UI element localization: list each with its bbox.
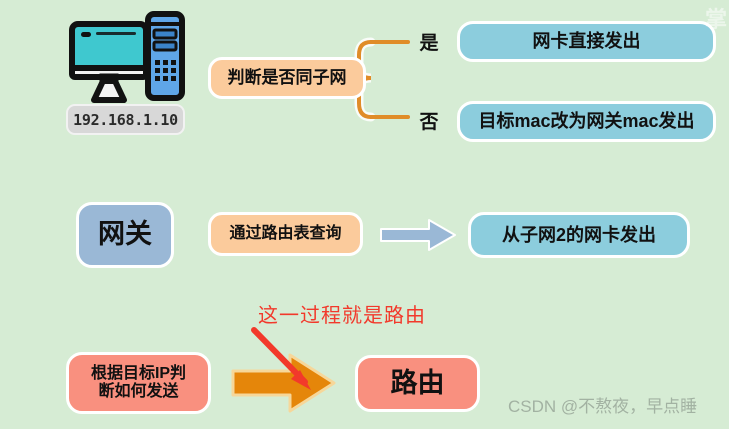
route-table-lookup-box: 通过路由表查询 bbox=[208, 212, 363, 256]
routing-annotation-note: 这一过程就是路由 bbox=[258, 299, 426, 328]
route-result-box: 路由 bbox=[355, 355, 480, 412]
branch-label-yes: 是 bbox=[417, 29, 441, 53]
decide-line-1: 根据目标IP判 bbox=[91, 365, 186, 383]
ip-address-label: 192.168.1.10 bbox=[66, 104, 185, 135]
orange-block-arrow-icon bbox=[233, 355, 334, 411]
corner-watermark: 掌 bbox=[705, 2, 727, 34]
result-nic-direct-box: 网卡直接发出 bbox=[457, 21, 716, 62]
csdn-watermark: CSDN @不熬夜，早点睡 bbox=[508, 392, 697, 417]
decision-subnet-box: 判断是否同子网 bbox=[208, 57, 366, 99]
decide-how-to-send-box: 根据目标IP判 断如何发送 bbox=[66, 352, 211, 414]
desktop-computer-icon bbox=[68, 10, 186, 105]
gateway-box: 网关 bbox=[76, 202, 174, 268]
result-mac-rewrite-box: 目标mac改为网关mac发出 bbox=[457, 101, 716, 142]
subnet2-nic-output-box: 从子网2的网卡发出 bbox=[468, 212, 690, 258]
diagram-canvas: 192.168.1.10 判断是否同子网 是 否 网卡直接发出 目标mac改为网… bbox=[0, 0, 729, 429]
decide-line-2: 断如何发送 bbox=[98, 383, 178, 401]
red-pointer-arrow-icon bbox=[254, 330, 311, 390]
branch-label-no: 否 bbox=[417, 108, 441, 132]
